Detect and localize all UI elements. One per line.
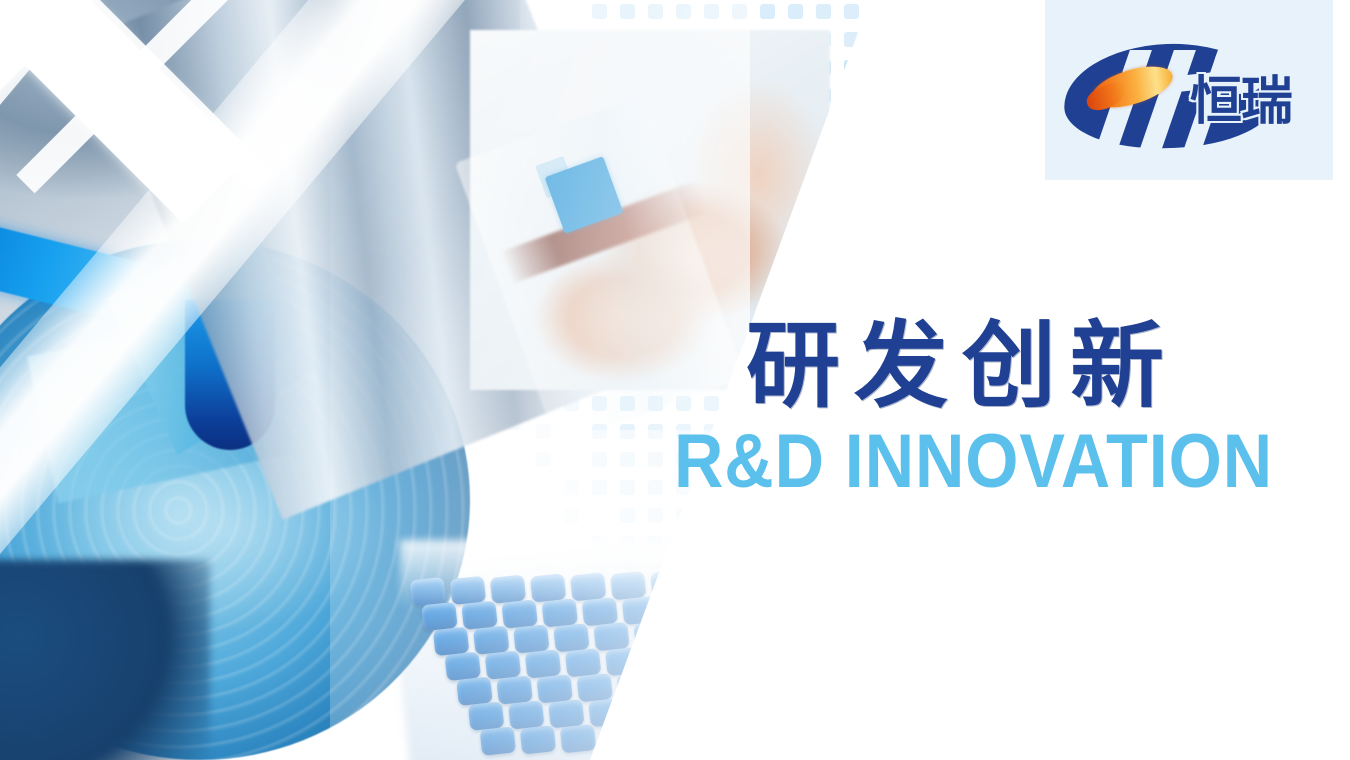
headline-block: 研发创新 R&D INNOVATION — [746, 318, 1346, 500]
brand-logo[interactable]: 恒瑞 — [1045, 0, 1333, 180]
page-title-en: R&D INNOVATION — [674, 424, 1279, 500]
rd-innovation-banner: 研发创新 R&D INNOVATION 恒瑞 — [0, 0, 1350, 760]
petri-dish-shadow — [0, 560, 210, 760]
hengrui-logo-mark: 恒瑞 — [1064, 30, 1314, 150]
logo-wordmark: 恒瑞 — [1190, 76, 1292, 128]
page-title-cn: 研发创新 — [746, 318, 1346, 416]
